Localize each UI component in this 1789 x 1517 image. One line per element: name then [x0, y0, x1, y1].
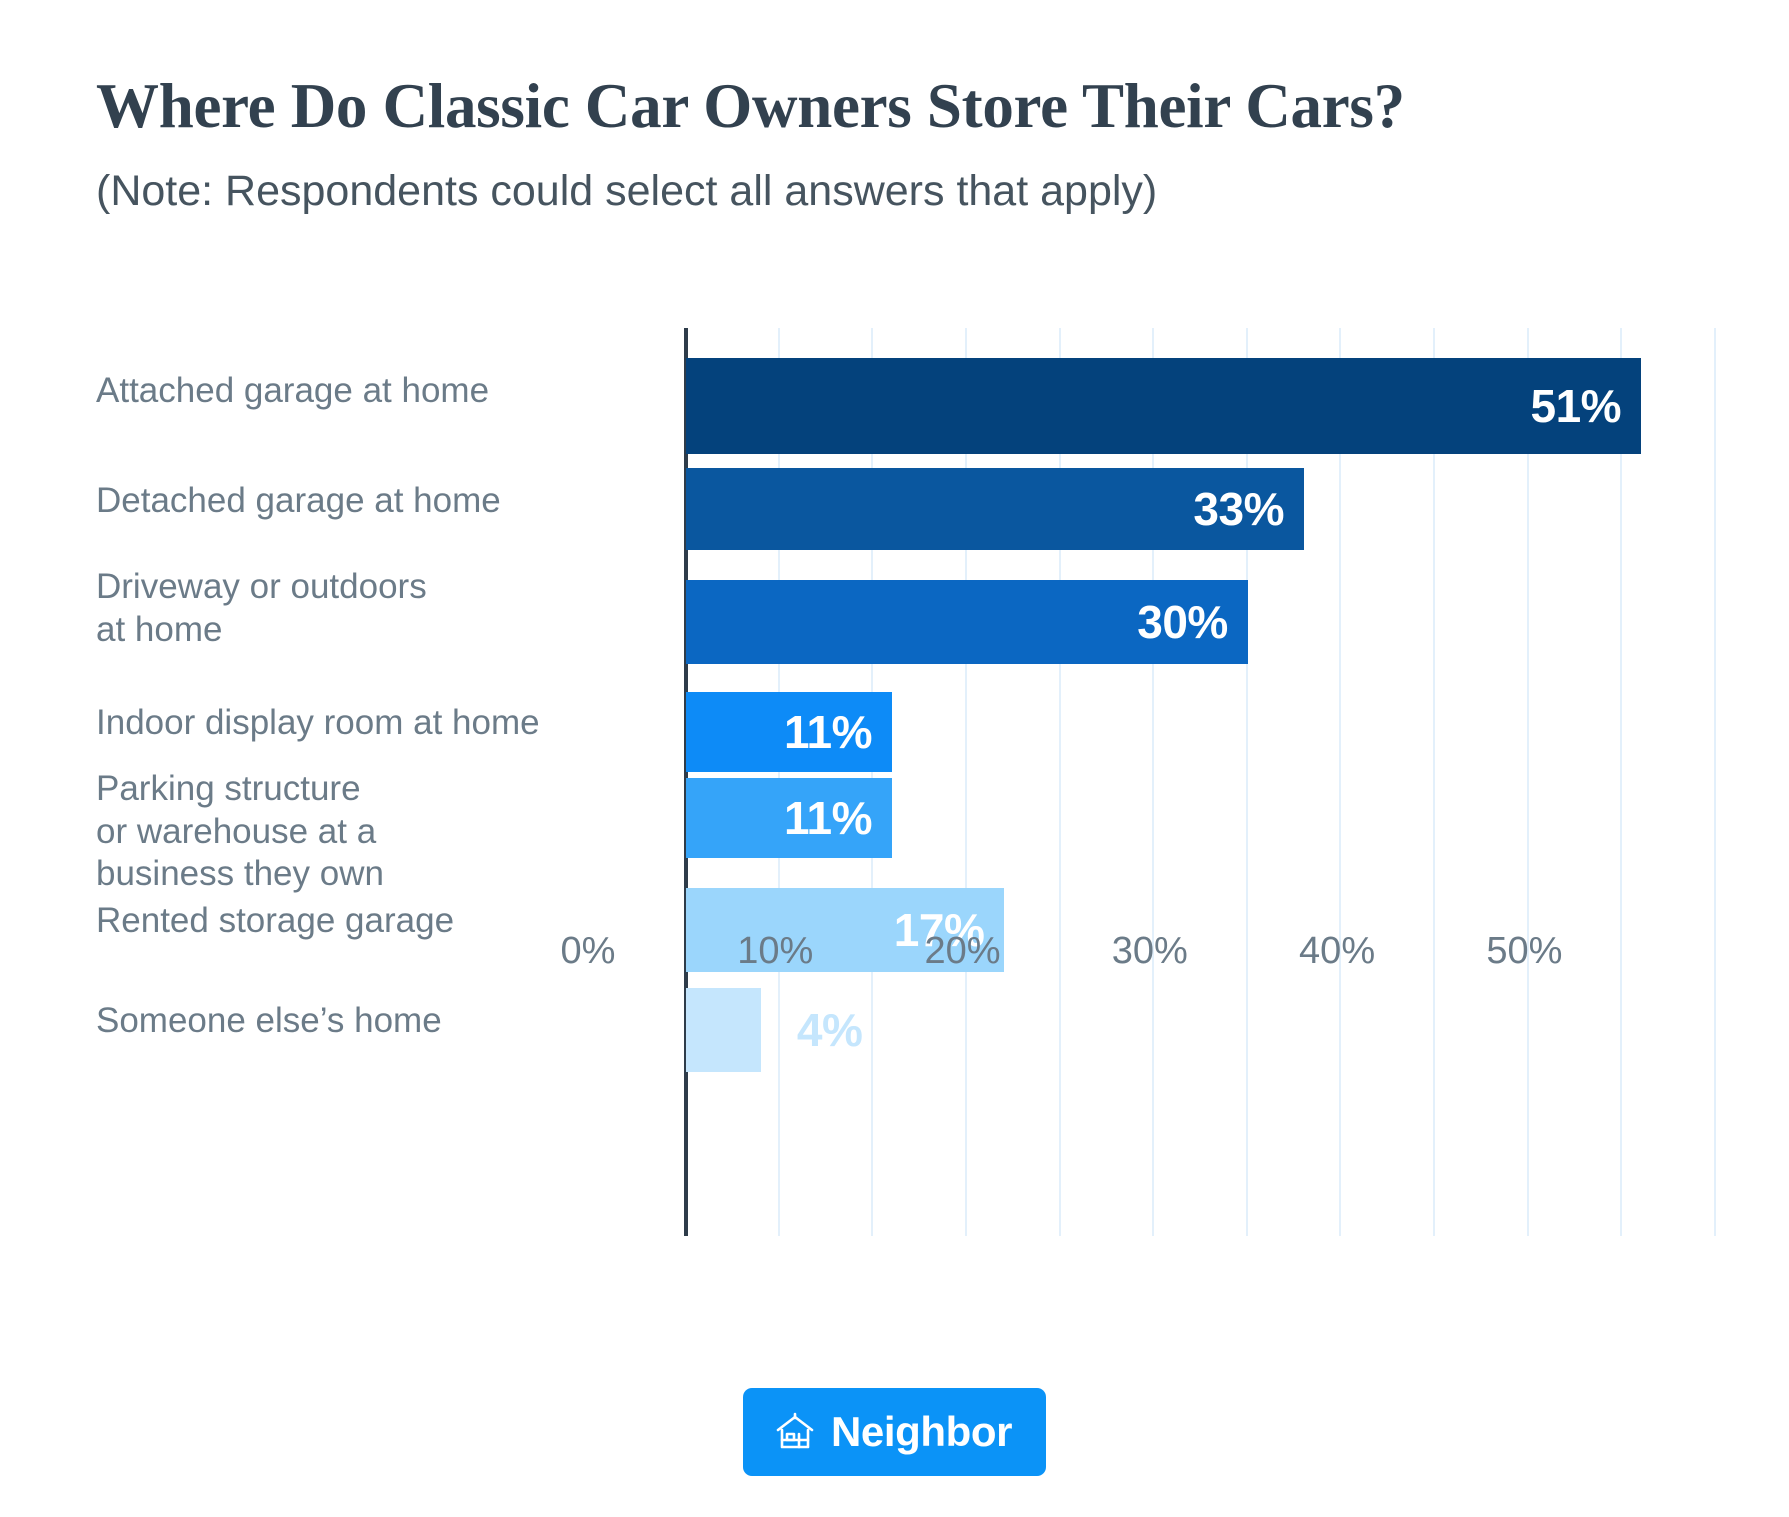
bar[interactable]: 11% — [686, 778, 892, 858]
bar[interactable]: 33% — [686, 468, 1304, 550]
x-axis-tick-label: 50% — [1486, 930, 1562, 973]
bar[interactable]: 4% — [686, 988, 761, 1072]
chart-plot-area: Attached garage at home51%Detached garag… — [96, 328, 1716, 1238]
x-axis-tick-label: 20% — [925, 930, 1001, 973]
neighbor-logo-badge[interactable]: Neighbor — [743, 1388, 1046, 1476]
bar-category-label: Indoor display room at home — [96, 702, 656, 745]
bar-category-label: Parking structure or warehouse at a busi… — [96, 768, 656, 896]
bar-track: 11% — [686, 778, 1716, 858]
x-axis-tick-label: 40% — [1299, 930, 1375, 973]
x-axis-tick-label: 0% — [561, 930, 616, 973]
bar-value-label: 51% — [1531, 379, 1642, 433]
x-axis-tick-label: 10% — [737, 930, 813, 973]
bar-category-label: Detached garage at home — [96, 480, 656, 523]
page-title: Where Do Classic Car Owners Store Their … — [96, 72, 1716, 140]
bar-row: Driveway or outdoors at home30% — [96, 580, 1716, 664]
chart-subtitle: (Note: Respondents could select all answ… — [96, 166, 1716, 218]
brand-name: Neighbor — [831, 1408, 1012, 1456]
bar-row: Parking structure or warehouse at a busi… — [96, 778, 1716, 858]
x-axis-tick-label: 30% — [1112, 930, 1188, 973]
bar[interactable]: 30% — [686, 580, 1248, 664]
bar-track: 30% — [686, 580, 1716, 664]
chart-page: Where Do Classic Car Owners Store Their … — [0, 0, 1789, 1517]
bar-category-label: Driveway or outdoors at home — [96, 566, 656, 651]
bar-track: 33% — [686, 468, 1716, 550]
chart-footer: Neighbor — [0, 1388, 1789, 1476]
x-axis: 0%10%20%30%40%50% — [588, 930, 1789, 990]
bar-row: Someone else’s home4% — [96, 988, 1716, 1072]
bar-value-label: 33% — [1193, 482, 1304, 536]
bar[interactable]: 51% — [686, 358, 1641, 454]
bar-category-label: Someone else’s home — [96, 1000, 656, 1043]
bar-track: 11% — [686, 692, 1716, 772]
bar-category-label: Attached garage at home — [96, 370, 656, 413]
house-icon — [773, 1410, 817, 1454]
chart-header: Where Do Classic Car Owners Store Their … — [96, 72, 1716, 218]
bar[interactable]: 11% — [686, 692, 892, 772]
bar-track: 4% — [686, 988, 1716, 1072]
bar-value-label: 11% — [784, 705, 892, 759]
bar-row: Attached garage at home51% — [96, 358, 1716, 454]
bar-value-label: 30% — [1137, 595, 1248, 649]
bar-rows: Attached garage at home51%Detached garag… — [96, 328, 1716, 1236]
bar-track: 51% — [686, 358, 1716, 454]
bar-value-label: 11% — [784, 791, 892, 845]
bar-row: Indoor display room at home11% — [96, 692, 1716, 772]
bar-row: Detached garage at home33% — [96, 468, 1716, 550]
bar-value-label: 4% — [761, 1003, 862, 1057]
